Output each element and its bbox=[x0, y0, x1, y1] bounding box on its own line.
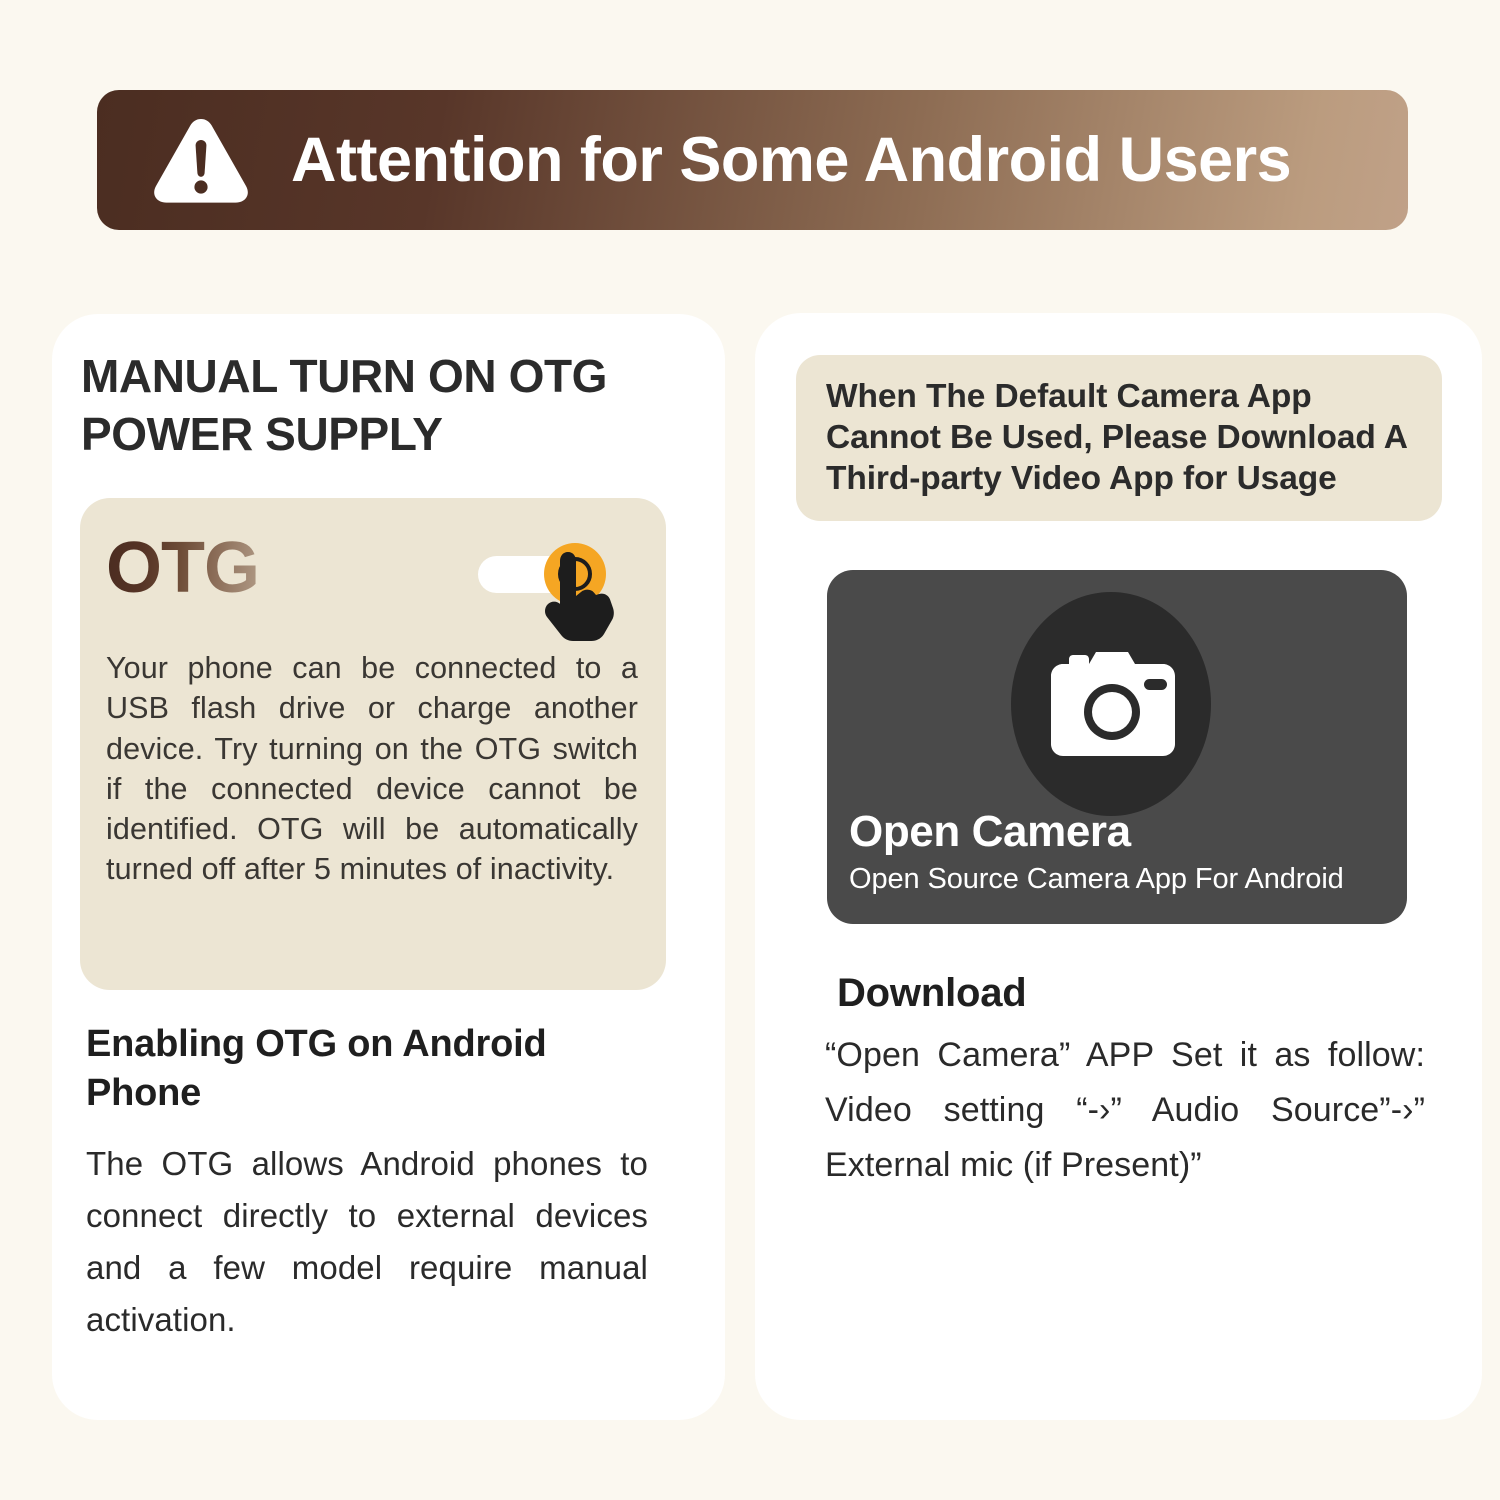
enabling-otg-description: The OTG allows Android phones to connect… bbox=[86, 1138, 648, 1347]
enabling-otg-heading: Enabling OTG on Android Phone bbox=[86, 1020, 646, 1117]
open-camera-app-card[interactable]: Open Camera Open Source Camera App For A… bbox=[827, 570, 1407, 924]
app-name: Open Camera bbox=[849, 810, 1131, 854]
banner-title: Attention for Some Android Users bbox=[291, 129, 1291, 192]
camera-notice-text: When The Default Camera App Cannot Be Us… bbox=[826, 377, 1414, 500]
otg-logo-text: OTG bbox=[106, 524, 259, 604]
left-panel-heading: MANUAL TURN ON OTG POWER SUPPLY bbox=[81, 348, 681, 464]
camera-icon bbox=[1051, 652, 1175, 756]
warning-triangle-icon bbox=[153, 117, 249, 203]
app-tagline: Open Source Camera App For Android bbox=[849, 865, 1344, 894]
left-panel: MANUAL TURN ON OTG POWER SUPPLY OTG Your… bbox=[52, 314, 725, 1420]
download-instructions: “Open Camera” APP Set it as follow: Vide… bbox=[825, 1028, 1425, 1193]
attention-banner: Attention for Some Android Users bbox=[97, 90, 1408, 230]
right-panel: When The Default Camera App Cannot Be Us… bbox=[755, 313, 1482, 1420]
download-heading: Download bbox=[837, 973, 1027, 1013]
otg-description: Your phone can be connected to a USB fla… bbox=[106, 648, 638, 890]
otg-header-row: OTG bbox=[106, 524, 638, 642]
page-root: Attention for Some Android Users MANUAL … bbox=[0, 0, 1500, 1500]
otg-toggle-switch[interactable] bbox=[478, 532, 614, 642]
pointing-hand-icon bbox=[540, 552, 614, 642]
otg-info-box: OTG Your phone can be connected to a USB… bbox=[80, 498, 666, 990]
camera-notice-box: When The Default Camera App Cannot Be Us… bbox=[796, 355, 1442, 521]
